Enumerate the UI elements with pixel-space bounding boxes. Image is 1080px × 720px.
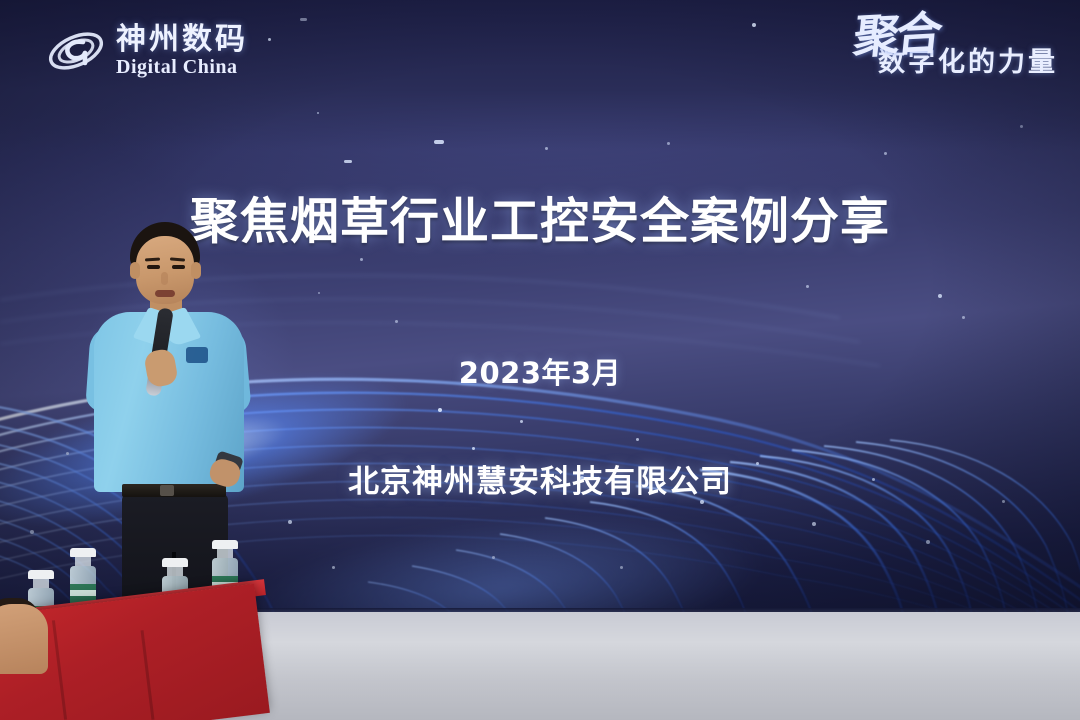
polo-chest-logo-icon [186, 347, 208, 363]
juhe-calligraphy: 聚合 [851, 12, 940, 59]
belt-buckle [160, 485, 174, 496]
bottle-label-stripe [70, 590, 96, 596]
speaker-mouth [155, 290, 175, 297]
bottle-cap [212, 540, 238, 549]
juhe-event-logo: 聚合 数字化的力量 [854, 14, 1058, 78]
bottle-neck [75, 557, 91, 566]
digital-china-wordmark: 神州数码 Digital China [116, 24, 248, 79]
speaker-eye-left [147, 265, 160, 269]
brand-name-en: Digital China [116, 56, 248, 78]
bottle-cap [70, 548, 96, 557]
brand-name-cn: 神州数码 [116, 24, 248, 56]
speaker-nose [161, 272, 168, 285]
foreground-attendee [0, 604, 48, 674]
bottle-neck [33, 579, 49, 588]
bottle-neck [217, 549, 233, 558]
spiral-logo-icon [45, 22, 107, 80]
bottle-neck [167, 567, 183, 576]
conference-photo: 神州数码 Digital China 聚合 数字化的力量 聚焦烟草行业工控安全案… [0, 0, 1080, 720]
bottle-cap [28, 570, 54, 579]
speaker-eye-right [172, 265, 185, 269]
speaker-belt [122, 484, 226, 497]
digital-china-logo: 神州数码 Digital China [45, 22, 248, 80]
speaker-ear-left [130, 262, 140, 279]
speaker-ear-right [191, 262, 201, 279]
bottle-cap [162, 558, 188, 567]
